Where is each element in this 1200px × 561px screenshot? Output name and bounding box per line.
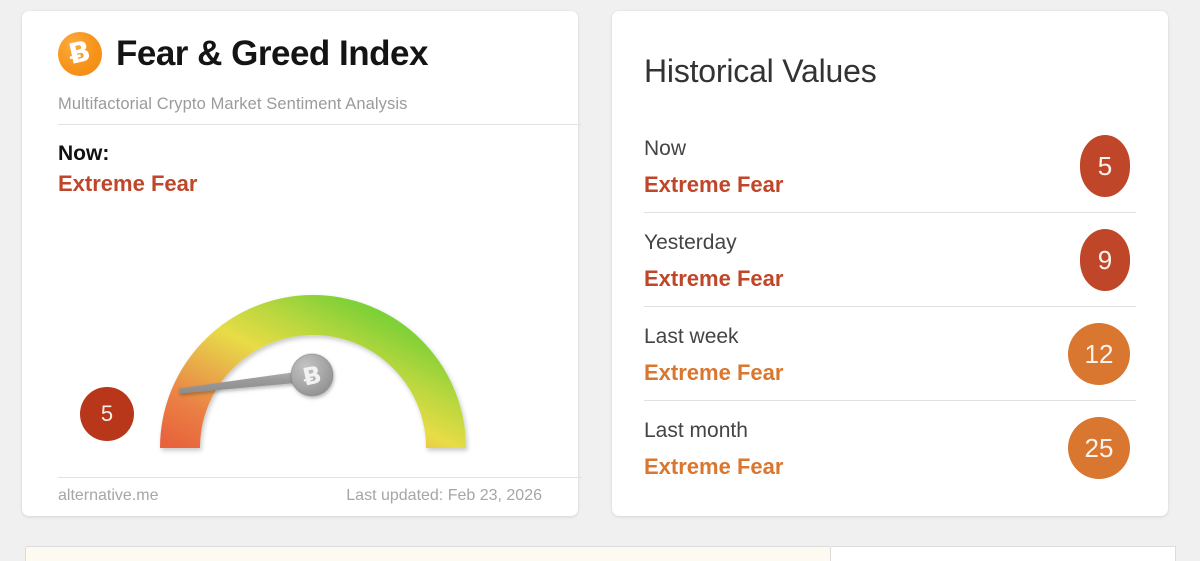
bitcoin-icon: Ƀ — [58, 32, 102, 76]
gauge-card-header: Ƀ Fear & Greed Index — [58, 32, 582, 76]
history-value: 12 — [1085, 341, 1114, 367]
list-item: Yesterday Extreme Fear 9 — [644, 213, 1136, 307]
footer-source: alternative.me — [58, 487, 159, 505]
list-item: Last week Extreme Fear 12 — [644, 307, 1136, 401]
history-period: Last week — [644, 325, 739, 349]
history-period: Last month — [644, 419, 748, 443]
list-item: Now Extreme Fear 5 — [644, 119, 1136, 213]
status-badge: 12 — [1068, 323, 1130, 385]
gauge-score-badge: 5 — [80, 387, 134, 441]
history-period: Now — [644, 137, 686, 161]
history-value: 25 — [1085, 435, 1114, 461]
history-classification: Extreme Fear — [644, 360, 783, 386]
page-title: Fear & Greed Index — [116, 34, 428, 74]
header-divider — [58, 124, 582, 125]
gauge-chart: Ƀ 5 — [58, 201, 568, 463]
historical-values-title: Historical Values — [644, 53, 877, 90]
fear-greed-gauge-card: Ƀ Fear & Greed Index Multifactorial Cryp… — [22, 11, 578, 516]
footer-divider — [58, 477, 582, 478]
status-badge: 9 — [1080, 229, 1130, 291]
gauge-score-value: 5 — [101, 401, 113, 427]
history-period: Yesterday — [644, 231, 737, 255]
historical-values-card: Historical Values Now Extreme Fear 5 Yes… — [612, 11, 1168, 516]
status-badge: 5 — [1080, 135, 1130, 197]
bottom-panel-partial — [25, 546, 831, 561]
history-classification: Extreme Fear — [644, 266, 783, 292]
bitcoin-icon-glyph: Ƀ — [67, 37, 94, 69]
now-label: Now: — [58, 142, 109, 166]
status-badge: 25 — [1068, 417, 1130, 479]
bottom-panel-partial-right — [831, 546, 1176, 561]
historical-values-list: Now Extreme Fear 5 Yesterday Extreme Fea… — [644, 119, 1136, 495]
bitcoin-hub-icon: Ƀ — [291, 354, 333, 396]
history-value: 5 — [1098, 153, 1112, 179]
page-root: Ƀ Fear & Greed Index Multifactorial Cryp… — [0, 0, 1200, 561]
history-value: 9 — [1098, 247, 1112, 273]
gauge-subtitle: Multifactorial Crypto Market Sentiment A… — [58, 95, 408, 114]
history-classification: Extreme Fear — [644, 172, 783, 198]
list-item: Last month Extreme Fear 25 — [644, 401, 1136, 495]
history-classification: Extreme Fear — [644, 454, 783, 480]
footer-last-updated: Last updated: Feb 23, 2026 — [346, 487, 542, 505]
gauge-svg: Ƀ — [58, 201, 568, 463]
now-classification: Extreme Fear — [58, 171, 197, 197]
